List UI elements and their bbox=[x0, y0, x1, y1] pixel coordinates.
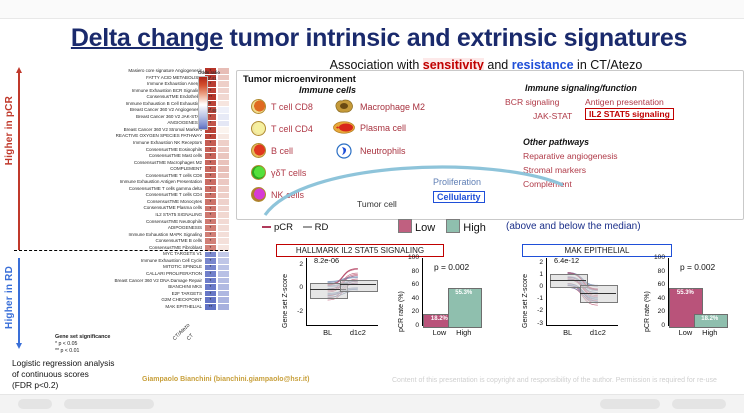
significance-marker: * bbox=[210, 174, 212, 178]
significance-marker: * bbox=[210, 115, 212, 119]
legend-swatch-high bbox=[446, 219, 460, 233]
significance-marker: * bbox=[210, 187, 212, 191]
slide-canvas: Delta change tumor intrinsic and extrins… bbox=[0, 0, 744, 413]
odds-ratio-tick-low: 0.48 bbox=[208, 108, 217, 113]
x-tick-label: BL bbox=[312, 328, 344, 337]
legend-label-low: Low bbox=[415, 222, 435, 234]
significance-marker: * bbox=[210, 206, 212, 210]
significance-marker: * bbox=[210, 298, 212, 302]
immune-cell-label: B cell bbox=[271, 146, 293, 156]
other-pathways-header: Other pathways bbox=[523, 137, 589, 147]
significance-marker: * bbox=[210, 213, 212, 217]
y-tick-label: 100 bbox=[405, 254, 419, 261]
immune-cell-label: Macrophage M2 bbox=[360, 102, 425, 112]
gene-set-significance-legend: Gene set significance * p < 0.05 ** p < … bbox=[55, 334, 110, 355]
immune-cell-item: Plasma cell bbox=[333, 121, 406, 134]
odds-ratio-legend: Odds ratio 2.41 1 0.48 bbox=[198, 70, 240, 76]
heatmap-row-label: MAK EPITHELIAL bbox=[8, 304, 204, 311]
boxplot-median bbox=[340, 284, 376, 285]
y-axis-label: pCR rate (%) bbox=[398, 264, 405, 332]
y-tick-label: 20 bbox=[405, 308, 419, 315]
significance-p005: * p < 0.05 bbox=[55, 341, 77, 347]
player-pill-1[interactable] bbox=[18, 399, 52, 409]
footer-copyright: Content of this presentation is copyrigh… bbox=[392, 377, 717, 384]
significance-marker: * bbox=[210, 160, 212, 164]
legend-label-high: High bbox=[463, 222, 486, 234]
significance-marker: * bbox=[210, 239, 212, 243]
legend-pcr-rd: pCR RD bbox=[262, 222, 328, 233]
tme-header: Tumor microenvironment bbox=[243, 73, 356, 84]
significance-marker: * bbox=[210, 226, 212, 230]
immune-cell-label: Plasma cell bbox=[360, 123, 406, 133]
legend-low-high: Low High bbox=[398, 219, 486, 234]
significance-marker: * bbox=[210, 252, 212, 256]
significance-marker: * bbox=[210, 272, 212, 276]
tumor-arc-icon bbox=[263, 155, 563, 217]
title-rest: tumor intrinsic and extrinsic signatures bbox=[223, 24, 687, 52]
method-note-line-2: of continuous scores bbox=[12, 369, 114, 380]
boxplot-median bbox=[550, 280, 586, 281]
cell-icon bbox=[251, 99, 266, 114]
heatmap-rows: Masiero core signature Angiogenesis*FATT… bbox=[8, 68, 230, 310]
significance-marker: * bbox=[210, 278, 212, 282]
immune-cell-label: T cell CD8 bbox=[271, 102, 313, 112]
x-tick-label: BL bbox=[552, 328, 584, 337]
odds-ratio-colorbar bbox=[198, 76, 208, 130]
significance-marker: * bbox=[210, 82, 212, 86]
legend-label-pcr: pCR bbox=[274, 222, 293, 233]
significance-marker: * bbox=[210, 200, 212, 204]
odds-ratio-title: Odds ratio bbox=[198, 70, 240, 75]
pathway-antigen-presentation: Antigen presentation bbox=[585, 97, 664, 107]
immune-cells-header: Immune cells bbox=[299, 85, 356, 95]
chart-panel-mak-epithelial: MAK EPITHELIAL Gene set Z-score210-1-2-3… bbox=[500, 244, 732, 356]
legend-line-pcr bbox=[262, 226, 271, 228]
y-tick-label: 60 bbox=[651, 281, 665, 288]
y-tick-label: 80 bbox=[651, 268, 665, 275]
pathway-il2-stat5-highlight: IL2 STAT5 signaling bbox=[585, 108, 674, 120]
odds-ratio-tick-high: 2.41 bbox=[208, 76, 217, 81]
x-tick-label: d1c2 bbox=[582, 328, 614, 337]
p-value-label: 8.2e-06 bbox=[314, 256, 339, 265]
plasma-cell-icon bbox=[333, 121, 355, 134]
immune-signaling-header: Immune signaling/function bbox=[525, 83, 637, 93]
cellularity-label: Cellularity bbox=[433, 191, 485, 203]
pathway-jak-stat: JAK-STAT bbox=[533, 111, 572, 121]
boxplot-box bbox=[340, 280, 378, 292]
y-tick-label: 20 bbox=[651, 308, 665, 315]
y-tick-label: 0 bbox=[405, 322, 419, 329]
significance-marker: * bbox=[210, 219, 212, 223]
boxplot-box bbox=[580, 285, 618, 303]
y-tick-label: 0 bbox=[651, 322, 665, 329]
bar-value-label: 18.2% bbox=[694, 316, 726, 322]
player-pill-4[interactable] bbox=[672, 399, 726, 409]
chart-panel-il2-stat5: HALLMARK IL2 STAT5 SIGNALING Gene set Z-… bbox=[262, 244, 490, 356]
tumor-cell-label: Tumor cell bbox=[357, 199, 397, 209]
immune-cell-item: T cell CD8 bbox=[251, 99, 313, 114]
viewer-bottom-bar bbox=[0, 394, 744, 413]
significance-marker: * bbox=[210, 285, 212, 289]
immune-cell-item: T cell CD4 bbox=[251, 121, 313, 136]
cell-icon bbox=[251, 121, 266, 136]
heatmap-divider bbox=[14, 250, 228, 251]
significance-marker: ** bbox=[209, 95, 212, 99]
significance-header: Gene set significance bbox=[55, 334, 110, 340]
odds-ratio-tick-mid: 1 bbox=[208, 100, 210, 105]
paired-plot-il2-stat5[interactable]: Gene set Z-score20-2BLd1c28.2e-06 bbox=[286, 258, 378, 338]
significance-marker: * bbox=[210, 259, 212, 263]
significance-marker: * bbox=[210, 180, 212, 184]
significance-marker: * bbox=[210, 134, 212, 138]
method-note: Logistic regression analysis of continuo… bbox=[12, 358, 114, 391]
p-value-label: p = 0.002 bbox=[434, 262, 469, 272]
legend-label-rd: RD bbox=[315, 222, 329, 233]
significance-marker: * bbox=[210, 141, 212, 145]
significance-marker: * bbox=[210, 246, 212, 250]
significance-marker: * bbox=[210, 167, 212, 171]
legend-swatch-low bbox=[398, 219, 412, 233]
footer-author: Giampaolo Bianchini (bianchini.giampaolo… bbox=[142, 376, 309, 383]
title-underlined: Delta change bbox=[71, 24, 223, 52]
viewer-top-bar bbox=[0, 0, 744, 19]
y-tick-label: 80 bbox=[405, 268, 419, 275]
significance-p001: ** p < 0.01 bbox=[55, 348, 79, 354]
chart-title-mak-epithelial: MAK EPITHELIAL bbox=[522, 244, 672, 257]
tumor-microenvironment-panel: Tumor microenvironment Immune cells T ce… bbox=[236, 70, 744, 220]
slide-title: Delta change tumor intrinsic and extrins… bbox=[34, 24, 724, 53]
heatmap-row-cells: ** bbox=[204, 303, 230, 311]
y-tick-label: 40 bbox=[405, 295, 419, 302]
legend-median-note: (above and below the median) bbox=[506, 221, 641, 232]
heatmap-cell[interactable]: ** bbox=[204, 303, 217, 311]
player-pill-2[interactable] bbox=[64, 399, 154, 409]
significance-marker: * bbox=[210, 233, 212, 237]
legend-line-rd bbox=[303, 226, 312, 228]
boxplot-median bbox=[580, 293, 616, 294]
p-value-label: 6.4e-12 bbox=[554, 256, 579, 265]
method-note-line-3: (FDR p<0.2) bbox=[12, 380, 114, 391]
significance-marker: * bbox=[210, 193, 212, 197]
significance-marker: * bbox=[210, 265, 212, 269]
x-tick-label: High bbox=[448, 328, 480, 337]
table-row[interactable]: MAK EPITHELIAL** bbox=[8, 304, 230, 311]
y-axis-label: pCR rate (%) bbox=[644, 264, 651, 332]
bar-value-label: 55.3% bbox=[448, 290, 480, 296]
bar-plot-il2-stat5[interactable]: pCR rate (%)02040608010018.2%Low55.3%Hig… bbox=[402, 258, 480, 338]
y-tick-label: 40 bbox=[651, 295, 665, 302]
bar-plot-mak-epithelial[interactable]: pCR rate (%)02040608010055.3%Low18.2%Hig… bbox=[648, 258, 726, 338]
paired-plot-mak-epithelial[interactable]: Gene set Z-score210-1-2-3BLd1c26.4e-12 bbox=[526, 258, 618, 338]
significance-marker: * bbox=[210, 128, 212, 132]
significance-marker: ** bbox=[209, 305, 212, 309]
proliferation-label: Proliferation bbox=[433, 177, 481, 187]
x-tick-label: d1c2 bbox=[342, 328, 374, 337]
player-pill-3[interactable] bbox=[600, 399, 660, 409]
y-tick-label: 100 bbox=[651, 254, 665, 261]
p-value-label: p = 0.002 bbox=[680, 262, 715, 272]
y-tick-label: 60 bbox=[405, 281, 419, 288]
axis-arrow-down bbox=[16, 343, 22, 349]
pathway-bcr-signaling: BCR signaling bbox=[505, 97, 559, 107]
macrophage-icon bbox=[333, 99, 355, 114]
significance-marker: * bbox=[210, 154, 212, 158]
method-note-line-1: Logistic regression analysis bbox=[12, 358, 114, 369]
immune-cell-item: Macrophage M2 bbox=[333, 99, 425, 114]
significance-marker: * bbox=[210, 147, 212, 151]
bar-value-label: 55.3% bbox=[669, 290, 701, 296]
gene-set-heatmap[interactable]: Masiero core signature Angiogenesis*FATT… bbox=[8, 68, 230, 336]
significance-marker: * bbox=[210, 121, 212, 125]
heatmap-cell[interactable] bbox=[217, 303, 230, 311]
immune-cell-label: T cell CD4 bbox=[271, 124, 313, 134]
significance-marker: * bbox=[210, 88, 212, 92]
x-tick-label: High bbox=[694, 328, 726, 337]
significance-marker: * bbox=[210, 291, 212, 295]
